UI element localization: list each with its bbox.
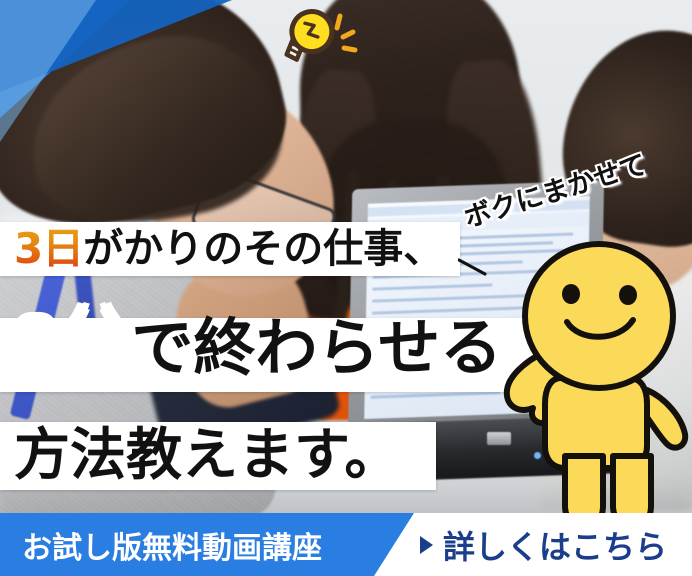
cta-link[interactable]: 詳しくはこちら [420,522,667,568]
cta-badge-label: お試し版無料動画講座 [22,523,322,567]
headline-1-highlight: 3日 [14,225,83,273]
headline-line-2: 3分 で終わらせる [14,300,502,384]
headline-bar-1: 3日 がかりのその仕事、 [0,222,460,276]
cta-link-label: 詳しくはこちら [443,522,667,568]
headline-2-highlight-shadow: 3分 [14,300,131,384]
headline-3-text: 方法教えます。 [14,425,400,487]
headline-2-highlight: 3分 [14,298,131,386]
promo-banner: ボクにまかせて [0,0,692,576]
cta-bar[interactable]: お試し版無料動画講座 詳しくはこちら [0,513,692,576]
headline-2-text: で終わらせる [131,312,502,384]
lightbulb-icon [258,6,364,86]
speech-pointer-line [458,258,488,276]
play-triangle-icon [420,536,433,554]
corner-accent-pale [0,0,96,142]
headline-1-text: がかりのその仕事、 [83,225,443,273]
headline-bar-3: 方法教えます。 [0,422,436,490]
mascot-character [495,238,692,538]
